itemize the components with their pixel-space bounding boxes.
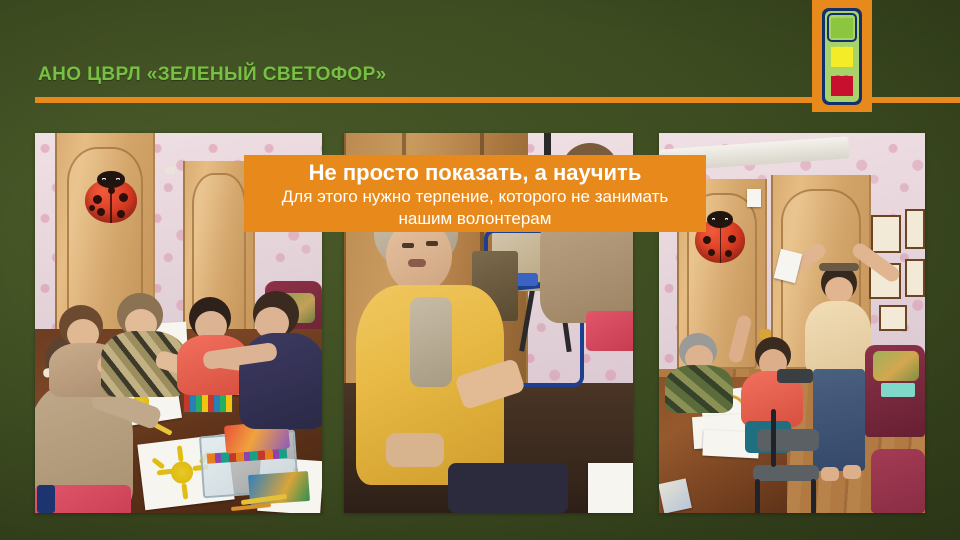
traffic-light-icon (822, 8, 862, 105)
caption-banner: Не просто показать, а научить Для этого … (244, 155, 706, 232)
caption-subtitle-line-2: нашим волонтерам (244, 208, 706, 230)
caption-subtitle-line-1: Для этого нужно терпение, которого не за… (244, 186, 706, 208)
caption-headline: Не просто показать, а научить (244, 160, 706, 186)
ladybug-decoration-icon (85, 171, 137, 227)
traffic-light-lamp-yellow (827, 42, 857, 71)
slide-root: АНО ЦВРЛ «ЗЕЛЕНЫЙ СВЕТОФОР» (0, 0, 960, 540)
red-heart-icon (831, 76, 853, 96)
page-title: АНО ЦВРЛ «ЗЕЛЕНЫЙ СВЕТОФОР» (38, 64, 387, 86)
traffic-light-lamp-green (827, 13, 857, 42)
traffic-light-body (825, 11, 859, 102)
traffic-light-lamp-red (827, 71, 857, 100)
green-heart-icon (831, 18, 853, 38)
yellow-heart-icon (831, 47, 853, 67)
